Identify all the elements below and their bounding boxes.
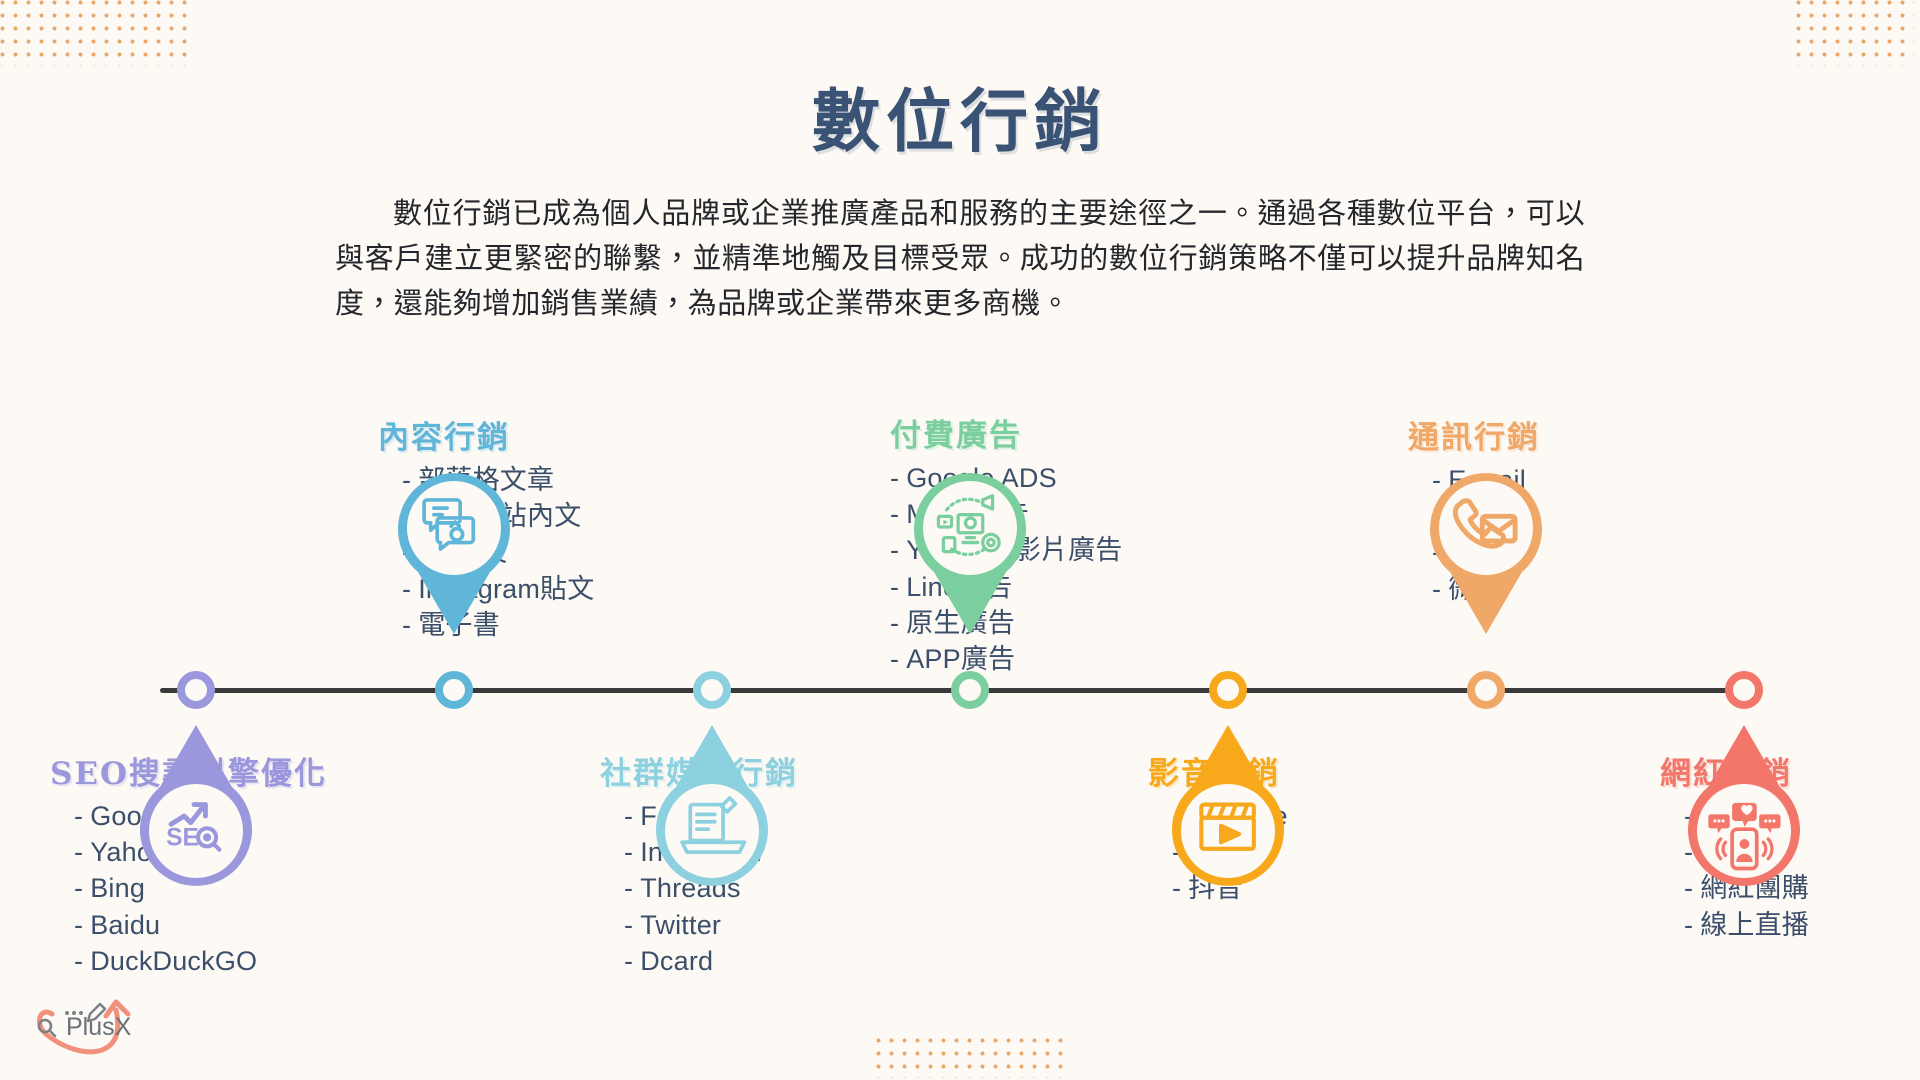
bullet-dash-icon: - xyxy=(74,910,83,940)
page-title: 數位行銷 xyxy=(0,66,1920,165)
section-title-content: 內容行銷 xyxy=(378,412,594,457)
bullet-dash-icon: - xyxy=(74,946,83,976)
logo-wordmark: PlusX xyxy=(66,1013,132,1041)
pin-seo[interactable]: SE xyxy=(130,725,262,891)
section-title-paid: 付費廣告 xyxy=(890,410,1123,455)
bullet-dash-icon: - xyxy=(74,873,83,903)
timeline-node-video[interactable] xyxy=(1209,671,1247,709)
section-title-messaging: 通訊行銷 xyxy=(1408,412,1540,457)
timeline-node-social[interactable] xyxy=(693,671,731,709)
list-item: -線上直播 xyxy=(1684,907,1809,943)
pin-social[interactable] xyxy=(646,725,778,891)
timeline-node-paid[interactable] xyxy=(951,671,989,709)
infographic-canvas: 數位行銷 數位行銷已成為個人品牌或企業推廣產品和服務的主要途徑之一。通過各種數位… xyxy=(0,0,1920,1080)
list-item: -APP廣告 xyxy=(890,641,1123,677)
timeline-node-content[interactable] xyxy=(435,671,473,709)
bullet-dash-icon: - xyxy=(624,873,633,903)
list-item-label: 線上直播 xyxy=(1700,910,1809,940)
pin-messaging[interactable] xyxy=(1420,468,1552,634)
bullet-dash-icon: - xyxy=(624,801,633,831)
intro-paragraph: 數位行銷已成為個人品牌或企業推廣產品和服務的主要途徑之一。通過各種數位平台，可以… xyxy=(335,191,1585,326)
pin-content[interactable] xyxy=(388,468,520,634)
list-item-label: APP廣告 xyxy=(906,644,1015,674)
dot-pattern-bottom-icon xyxy=(872,1034,1068,1078)
list-item-label: DuckDuckGO xyxy=(90,946,257,976)
bullet-dash-icon: - xyxy=(890,608,899,638)
timeline-node-messaging[interactable] xyxy=(1467,671,1505,709)
list-item: -Twitter xyxy=(624,907,798,943)
bullet-dash-icon: - xyxy=(890,463,899,493)
list-item-label: Dcard xyxy=(640,946,713,976)
list-item: -Dcard xyxy=(624,943,798,979)
bullet-dash-icon: - xyxy=(890,535,899,565)
pin-influencer[interactable] xyxy=(1678,725,1810,891)
bullet-dash-icon: - xyxy=(624,910,633,940)
bullet-dash-icon: - xyxy=(624,837,633,867)
bullet-dash-icon: - xyxy=(624,946,633,976)
pin-paid[interactable] xyxy=(904,468,1036,634)
seo-label: SE xyxy=(166,825,199,852)
bullet-dash-icon: - xyxy=(1684,910,1693,940)
bullet-dash-icon: - xyxy=(890,644,899,674)
bullet-dash-icon: - xyxy=(74,801,83,831)
list-item: -DuckDuckGO xyxy=(74,943,327,979)
header: 數位行銷 數位行銷已成為個人品牌或企業推廣產品和服務的主要途徑之一。通過各種數位… xyxy=(0,0,1920,326)
timeline-node-seo[interactable] xyxy=(177,671,215,709)
plusx-logo: PlusX xyxy=(22,980,172,1066)
bullet-dash-icon: - xyxy=(890,572,899,602)
list-item-label: Baidu xyxy=(90,910,160,940)
list-item: -Baidu xyxy=(74,907,327,943)
timeline-node-influencer[interactable] xyxy=(1725,671,1763,709)
bullet-dash-icon: - xyxy=(74,837,83,867)
list-item-label: Twitter xyxy=(640,910,721,940)
pin-video[interactable] xyxy=(1162,725,1294,891)
bullet-dash-icon: - xyxy=(890,499,899,529)
